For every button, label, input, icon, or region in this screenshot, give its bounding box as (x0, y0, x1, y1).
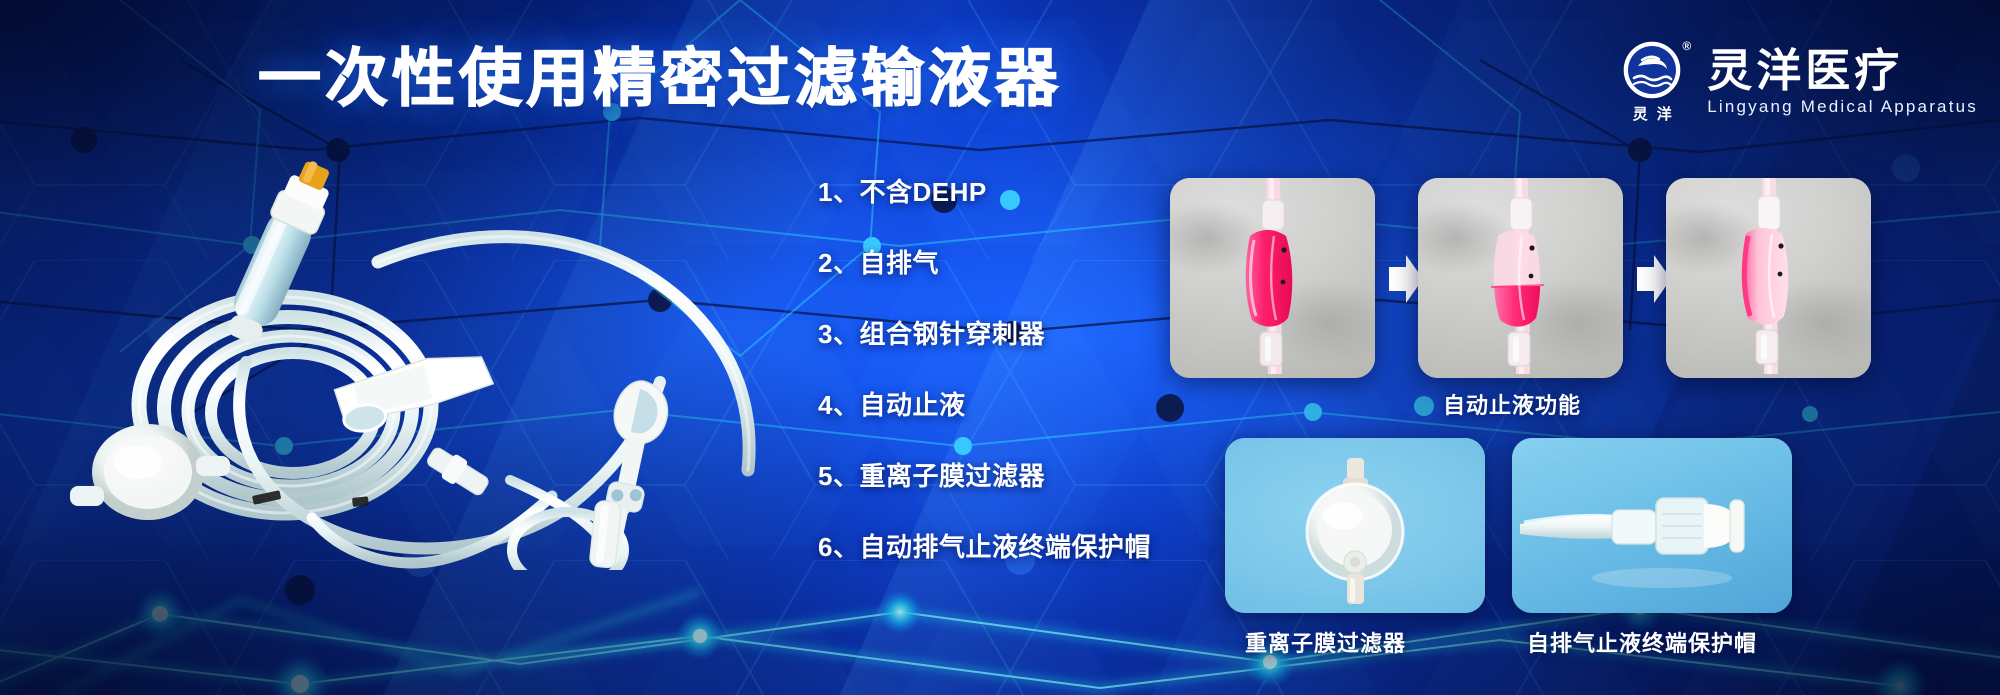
company-name-en: Lingyang Medical Apparatus (1707, 97, 1978, 117)
feature-list: 1、不含DEHP 2、自排气 3、组合钢针穿刺器 4、自动止液 5、重离子膜过滤… (818, 172, 1198, 564)
logo-seal-text: 灵洋 (1624, 103, 1681, 124)
feature-item: 6、自动排气止液终端保护帽 (818, 527, 1198, 564)
sequence-photo-2[interactable] (1418, 178, 1623, 378)
detail-photo-cap[interactable] (1512, 438, 1792, 613)
logo-mark: ® 灵洋 (1613, 40, 1691, 124)
company-name-cn: 灵洋医疗 (1707, 47, 1978, 95)
stop-valve-half-icon (1418, 178, 1623, 378)
detail-photo-filter[interactable] (1225, 438, 1485, 613)
brand-logo[interactable]: ® 灵洋 灵洋医疗 Lingyang Medical Apparatus (1613, 40, 1978, 124)
sequence-photo-3[interactable] (1666, 178, 1871, 378)
detail-caption-cap: 自排气止液终端保护帽 (1527, 626, 1757, 658)
logo-seal-icon: ® (1622, 40, 1682, 100)
stop-valve-full-icon (1170, 178, 1375, 378)
feature-item: 4、自动止液 (818, 385, 1198, 422)
feature-item: 3、组合钢针穿刺器 (818, 314, 1198, 351)
feature-item: 5、重离子膜过滤器 (818, 456, 1198, 493)
detail-caption-filter: 重离子膜过滤器 (1245, 626, 1406, 658)
feature-item: 1、不含DEHP (818, 172, 1198, 209)
sequence-caption: 自动止液功能 (1443, 388, 1581, 420)
stop-valve-empty-icon (1666, 178, 1871, 378)
banner-root: 一次性使用精密过滤输液器 ® 灵洋 灵洋医疗 Lingyang Medical … (0, 0, 2000, 695)
terminal-protector-cap-icon (1512, 438, 1792, 613)
banner-title: 一次性使用精密过滤输液器 (258, 48, 1062, 111)
product-photo (40, 150, 780, 570)
registered-mark-icon: ® (1682, 39, 1691, 53)
logo-wordmark: 灵洋医疗 Lingyang Medical Apparatus (1707, 47, 1978, 117)
feature-item: 2、自排气 (818, 243, 1198, 280)
sequence-photo-1[interactable] (1170, 178, 1375, 378)
membrane-filter-icon (1225, 438, 1485, 613)
